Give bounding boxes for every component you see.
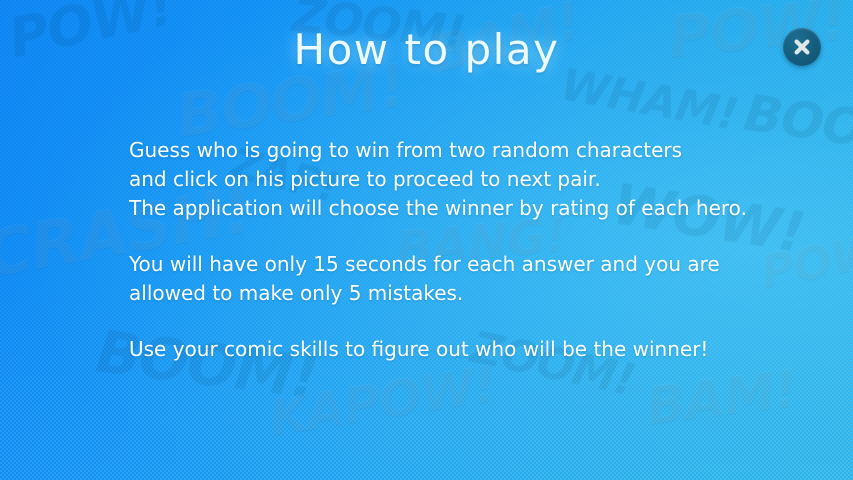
close-x-icon: [792, 37, 812, 57]
comic-watermark: KAPOW!: [265, 354, 500, 447]
how-to-play-screen: POW!BOOM!ZOOM!BAM!WHAM!POW!BOOM!CRASH!ZA…: [0, 0, 853, 480]
instructions-line: allowed to make only 5 mistakes.: [129, 279, 789, 308]
instructions-paragraph: Guess who is going to win from two rando…: [129, 136, 789, 223]
instructions-paragraph: You will have only 15 seconds for each a…: [129, 250, 789, 308]
instructions-line: The application will choose the winner b…: [129, 194, 789, 223]
instructions-line: Use your comic skills to figure out who …: [129, 335, 789, 364]
instructions-paragraph: Use your comic skills to figure out who …: [129, 335, 789, 364]
comic-watermark: BAM!: [643, 359, 801, 437]
instructions-line: Guess who is going to win from two rando…: [129, 136, 789, 165]
instructions-line: and click on his picture to proceed to n…: [129, 165, 789, 194]
close-button[interactable]: [783, 28, 821, 66]
page-title: How to play: [0, 24, 853, 77]
instructions-text: Guess who is going to win from two rando…: [129, 136, 789, 364]
instructions-line: You will have only 15 seconds for each a…: [129, 250, 789, 279]
